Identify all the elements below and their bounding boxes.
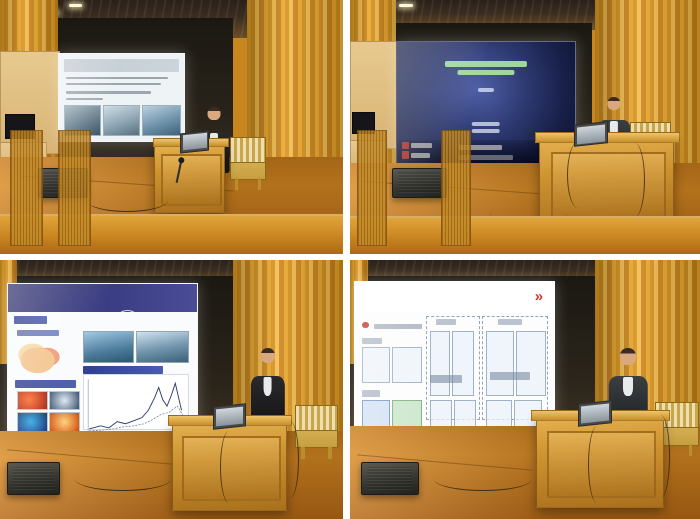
projection-screen [58, 53, 185, 141]
slide-title-bullet-icon [362, 322, 368, 328]
slide-title-bar [374, 324, 422, 329]
ceiling-light [69, 4, 83, 8]
subsection-label [17, 330, 59, 337]
stage-chair [295, 405, 338, 448]
slide-title-block [64, 59, 179, 73]
slide-logo [402, 142, 409, 149]
collage-cell-top-right [347, 0, 700, 257]
arch-block [430, 331, 450, 395]
laptop-screen [216, 406, 243, 426]
stage-apron [0, 214, 343, 254]
chair-leg [258, 178, 261, 190]
slide-top-band [355, 282, 555, 313]
slide-thumbnail [49, 412, 79, 432]
arch-center-label [436, 319, 456, 325]
photo-top-right [350, 0, 700, 254]
photo-bottom-right: » [350, 260, 700, 519]
arch-center-label [498, 319, 522, 325]
apron-vent [441, 130, 471, 246]
slide-thumbnail [17, 391, 47, 411]
chair-leg [301, 447, 305, 459]
arch-block [430, 400, 452, 427]
stage-cable [588, 426, 607, 504]
laptop [578, 401, 612, 427]
stage-cable [220, 431, 238, 504]
slide-photo-wind-farm [83, 331, 134, 363]
photo-collage: » [0, 0, 700, 519]
arch-block [486, 331, 514, 395]
laptop-screen [580, 404, 608, 424]
arch-group-label [362, 390, 380, 396]
slide-presenter-line [478, 88, 494, 92]
arch-block-green [392, 400, 422, 427]
laptop [180, 131, 209, 154]
photo-top-left [0, 0, 343, 254]
projection-screen: » [354, 281, 556, 438]
speaker-person [250, 348, 284, 421]
person-head [620, 348, 636, 365]
slide-thumbnail [49, 391, 79, 411]
chair-leg [328, 447, 332, 459]
slide-thumbnail [17, 412, 47, 432]
floor-monitor-speaker [361, 462, 419, 495]
slide-header-bar [8, 284, 197, 312]
apron-vent [357, 130, 387, 246]
slide-logo-text [411, 143, 432, 148]
collage-cell-bottom-left [0, 257, 347, 519]
china-map-graphic [17, 339, 66, 380]
slide-body [8, 312, 197, 447]
arch-block [516, 331, 546, 395]
slide-text-line [66, 98, 104, 101]
slide-logo [402, 151, 409, 158]
slide-logo-text [411, 153, 431, 158]
stage-cable [651, 415, 670, 498]
stage-apron [350, 216, 700, 254]
stage-chair [230, 137, 266, 180]
person-shirt [263, 377, 272, 396]
slide-photo [142, 105, 182, 136]
arch-module-label-right [490, 372, 530, 380]
slide-text-line [66, 77, 169, 80]
slide-affiliation-line [471, 129, 500, 133]
arch-block [362, 347, 390, 383]
apron-vent [58, 130, 91, 246]
ceiling-light [399, 4, 413, 8]
person-shirt [623, 377, 633, 396]
chair-back [231, 138, 265, 163]
arch-block [392, 347, 422, 383]
chair-leg [689, 444, 693, 456]
slide-text-line [66, 91, 151, 94]
person-head [608, 97, 621, 111]
slide-photo [103, 105, 140, 136]
laptop-screen [577, 124, 605, 144]
arch-block [454, 400, 476, 427]
slide-affiliation-line [471, 122, 500, 126]
collage-cell-bottom-right: » [347, 257, 700, 519]
slide-title-line [457, 70, 514, 75]
chair-back [296, 406, 337, 431]
band-label-left [15, 380, 75, 388]
apron-vent [10, 130, 43, 246]
band-label-right [83, 366, 162, 374]
floor-monitor-speaker [7, 462, 60, 495]
floor-monitor-speaker [392, 168, 447, 198]
laptop-screen [183, 133, 207, 150]
arch-module-label-left [430, 375, 462, 383]
slide-text-line [66, 83, 161, 86]
stage-cable [623, 142, 645, 218]
arch-group-label [362, 338, 382, 344]
arch-block [452, 331, 474, 395]
podium-panel [161, 154, 223, 206]
arch-block [486, 400, 512, 427]
chair-leg [235, 178, 238, 190]
slide-photo-offshore-wind [136, 331, 189, 363]
section-label [14, 316, 48, 324]
slide-title-line [445, 61, 527, 66]
podium-top [535, 132, 681, 143]
double-chevron-right-icon: » [535, 288, 542, 305]
person-head [208, 107, 221, 121]
person-head [260, 348, 274, 363]
photo-bottom-left [0, 260, 343, 519]
collage-cell-top-left [0, 0, 347, 257]
stage-cable [567, 142, 589, 208]
laptop [213, 403, 246, 429]
arch-block-blue [362, 400, 390, 427]
